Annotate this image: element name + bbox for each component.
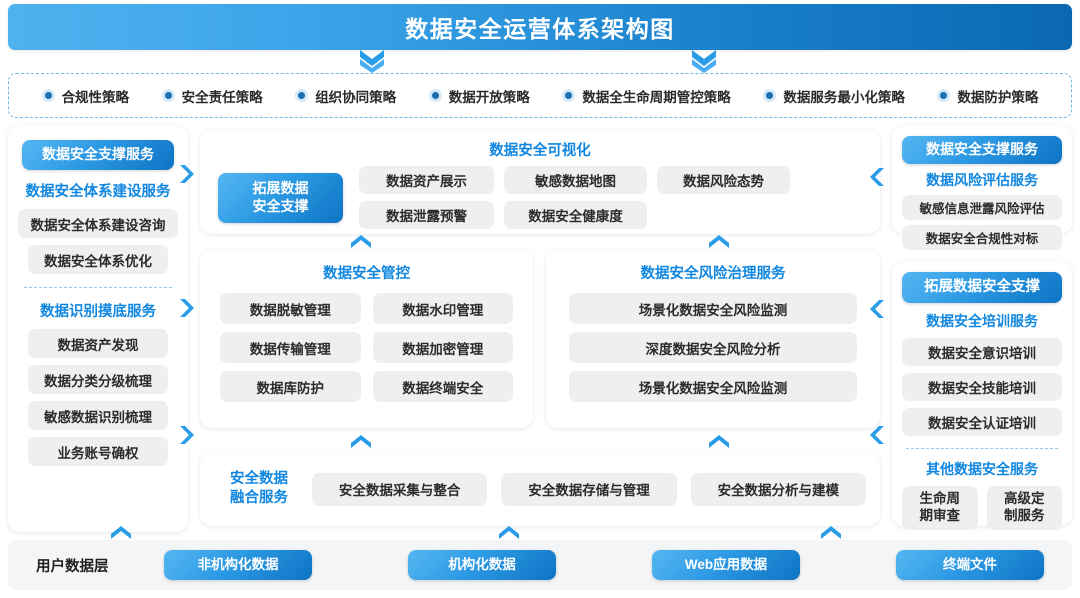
extend-data-security-support-badge[interactable]: 拓展数据 安全支撑 [218, 173, 343, 223]
right-bottom-group2-item[interactable]: 高级定 制服务 [987, 486, 1063, 530]
policy-item[interactable]: 安全责任策略 [162, 86, 263, 106]
chevron-double-up-icon [350, 434, 372, 450]
policy-item[interactable]: 数据开放策略 [429, 86, 530, 106]
left-group1-title: 数据安全体系建设服务 [18, 180, 178, 201]
risk-governance-item[interactable]: 深度数据安全风险分析 [569, 332, 857, 363]
left-group2-title: 数据识别摸底服务 [18, 300, 178, 321]
data-layer-item[interactable]: 机构化数据 [408, 550, 556, 580]
bullet-dot-icon [763, 89, 776, 102]
data-layer-item[interactable]: 终端文件 [896, 550, 1044, 580]
viz-item[interactable]: 敏感数据地图 [504, 166, 647, 194]
visualization-panel: 数据安全可视化 拓展数据 安全支撑 数据资产展示 敏感数据地图 数据风险态势 数… [200, 130, 880, 234]
policy-label: 数据全生命周期管控策略 [582, 86, 731, 106]
data-security-control-panel: 数据安全管控 数据脱敏管理 数据水印管理 数据传输管理 数据加密管理 数据库防护… [200, 250, 533, 428]
chevron-double-up-icon [708, 434, 730, 450]
viz-item[interactable]: 数据安全健康度 [504, 201, 647, 229]
data-layer-item[interactable]: Web应用数据 [652, 550, 800, 580]
right-top-header-button[interactable]: 数据安全支撑服务 [902, 136, 1062, 164]
policy-label: 安全责任策略 [182, 86, 263, 106]
left-group2-item[interactable]: 数据分类分级梳理 [28, 365, 168, 394]
divider [24, 287, 172, 288]
control-item[interactable]: 数据水印管理 [373, 293, 514, 324]
control-item[interactable]: 数据脱敏管理 [220, 293, 361, 324]
left-sidebar-panel: 数据安全支撑服务 数据安全体系建设服务 数据安全体系建设咨询 数据安全体系优化 … [8, 126, 188, 532]
page-title-banner: 数据安全运营体系架构图 [8, 4, 1072, 50]
data-fusion-panel: 安全数据 融合服务 安全数据采集与整合 安全数据存储与管理 安全数据分析与建模 [200, 452, 880, 526]
policy-label: 组织协同策略 [315, 86, 396, 106]
right-top-item[interactable]: 数据安全合规性对标 [902, 225, 1062, 250]
item-line1: 生命周 [920, 491, 961, 506]
right-bottom-group2-item[interactable]: 生命周 期审查 [902, 486, 978, 530]
user-data-layer-label: 用户数据层 [36, 555, 154, 576]
viz-item[interactable]: 数据资产展示 [359, 166, 494, 194]
viz-item[interactable]: 数据泄露预警 [359, 201, 494, 229]
control-item[interactable]: 数据库防护 [220, 371, 361, 402]
right-bottom-group1-item[interactable]: 数据安全意识培训 [902, 338, 1062, 366]
policy-item[interactable]: 数据服务最小化策略 [763, 86, 905, 106]
left-group2-item[interactable]: 数据资产发现 [28, 329, 168, 358]
policy-item[interactable]: 数据防护策略 [937, 86, 1038, 106]
control-item[interactable]: 数据加密管理 [373, 332, 514, 363]
chevron-double-down-icon [690, 48, 718, 74]
policy-label: 数据开放策略 [449, 86, 530, 106]
right-bottom-group1-item[interactable]: 数据安全技能培训 [902, 373, 1062, 401]
user-data-layer-bar: 用户数据层 非机构化数据 机构化数据 Web应用数据 终端文件 [8, 540, 1072, 590]
chevron-double-up-icon [498, 525, 520, 541]
policy-item[interactable]: 组织协同策略 [295, 86, 396, 106]
risk-governance-item[interactable]: 场景化数据安全风险监测 [569, 293, 857, 324]
item-line2: 制服务 [1004, 508, 1045, 523]
item-line2: 期审查 [920, 508, 961, 523]
chevron-double-up-icon [820, 525, 842, 541]
policy-label: 数据防护策略 [957, 86, 1038, 106]
risk-governance-panel: 数据安全风险治理服务 场景化数据安全风险监测 深度数据安全风险分析 场景化数据安… [546, 250, 880, 428]
right-top-item[interactable]: 敏感信息泄露风险评估 [902, 195, 1062, 220]
right-top-group-title: 数据风险评估服务 [902, 170, 1062, 190]
page-title: 数据安全运营体系架构图 [405, 10, 675, 44]
policy-label: 合规性策略 [62, 86, 130, 106]
chevron-double-down-icon [358, 48, 386, 74]
bullet-dot-icon [562, 89, 575, 102]
left-group2-item[interactable]: 敏感数据识别梳理 [28, 401, 168, 430]
badge-line1: 拓展数据 [253, 180, 309, 196]
right-bottom-group2-title: 其他数据安全服务 [902, 459, 1062, 479]
left-group1-item[interactable]: 数据安全体系优化 [28, 245, 168, 274]
divider [906, 448, 1058, 449]
risk-governance-item[interactable]: 场景化数据安全风险监测 [569, 371, 857, 402]
fusion-item[interactable]: 安全数据采集与整合 [312, 473, 487, 506]
bullet-dot-icon [429, 89, 442, 102]
right-bottom-header-button[interactable]: 拓展数据安全支撑 [902, 272, 1062, 303]
policy-strip: 合规性策略 安全责任策略 组织协同策略 数据开放策略 数据全生命周期管控策略 数… [8, 73, 1072, 118]
policy-label: 数据服务最小化策略 [783, 86, 905, 106]
risk-governance-title: 数据安全风险治理服务 [546, 250, 880, 283]
policy-item[interactable]: 合规性策略 [42, 86, 130, 106]
policy-item[interactable]: 数据全生命周期管控策略 [562, 86, 731, 106]
bullet-dot-icon [295, 89, 308, 102]
control-item[interactable]: 数据终端安全 [373, 371, 514, 402]
chevron-double-up-icon [350, 234, 372, 250]
right-bottom-group1-title: 数据安全培训服务 [902, 311, 1062, 331]
fusion-title-line2: 融合服务 [230, 490, 288, 506]
bullet-dot-icon [162, 89, 175, 102]
control-item[interactable]: 数据传输管理 [220, 332, 361, 363]
fusion-title-line1: 安全数据 [230, 471, 288, 487]
viz-item[interactable]: 数据风险态势 [657, 166, 790, 194]
right-sidebar-top-panel: 数据安全支撑服务 数据风险评估服务 敏感信息泄露风险评估 数据安全合规性对标 [892, 126, 1072, 234]
fusion-title: 安全数据 融合服务 [220, 470, 298, 508]
right-bottom-group1-item[interactable]: 数据安全认证培训 [902, 408, 1062, 436]
item-line1: 高级定 [1004, 491, 1045, 506]
bullet-dot-icon [937, 89, 950, 102]
chevron-double-up-icon [708, 234, 730, 250]
control-title: 数据安全管控 [200, 250, 533, 283]
fusion-item[interactable]: 安全数据分析与建模 [691, 473, 866, 506]
right-sidebar-bottom-panel: 拓展数据安全支撑 数据安全培训服务 数据安全意识培训 数据安全技能培训 数据安全… [892, 262, 1072, 526]
left-group2-item[interactable]: 业务账号确权 [28, 437, 168, 466]
badge-line2: 安全支撑 [253, 198, 309, 214]
fusion-item[interactable]: 安全数据存储与管理 [501, 473, 676, 506]
bullet-dot-icon [42, 89, 55, 102]
left-sidebar-header-button[interactable]: 数据安全支撑服务 [22, 140, 174, 170]
data-layer-item[interactable]: 非机构化数据 [164, 550, 312, 580]
visualization-title: 数据安全可视化 [200, 130, 880, 160]
left-group1-item[interactable]: 数据安全体系建设咨询 [18, 209, 178, 238]
